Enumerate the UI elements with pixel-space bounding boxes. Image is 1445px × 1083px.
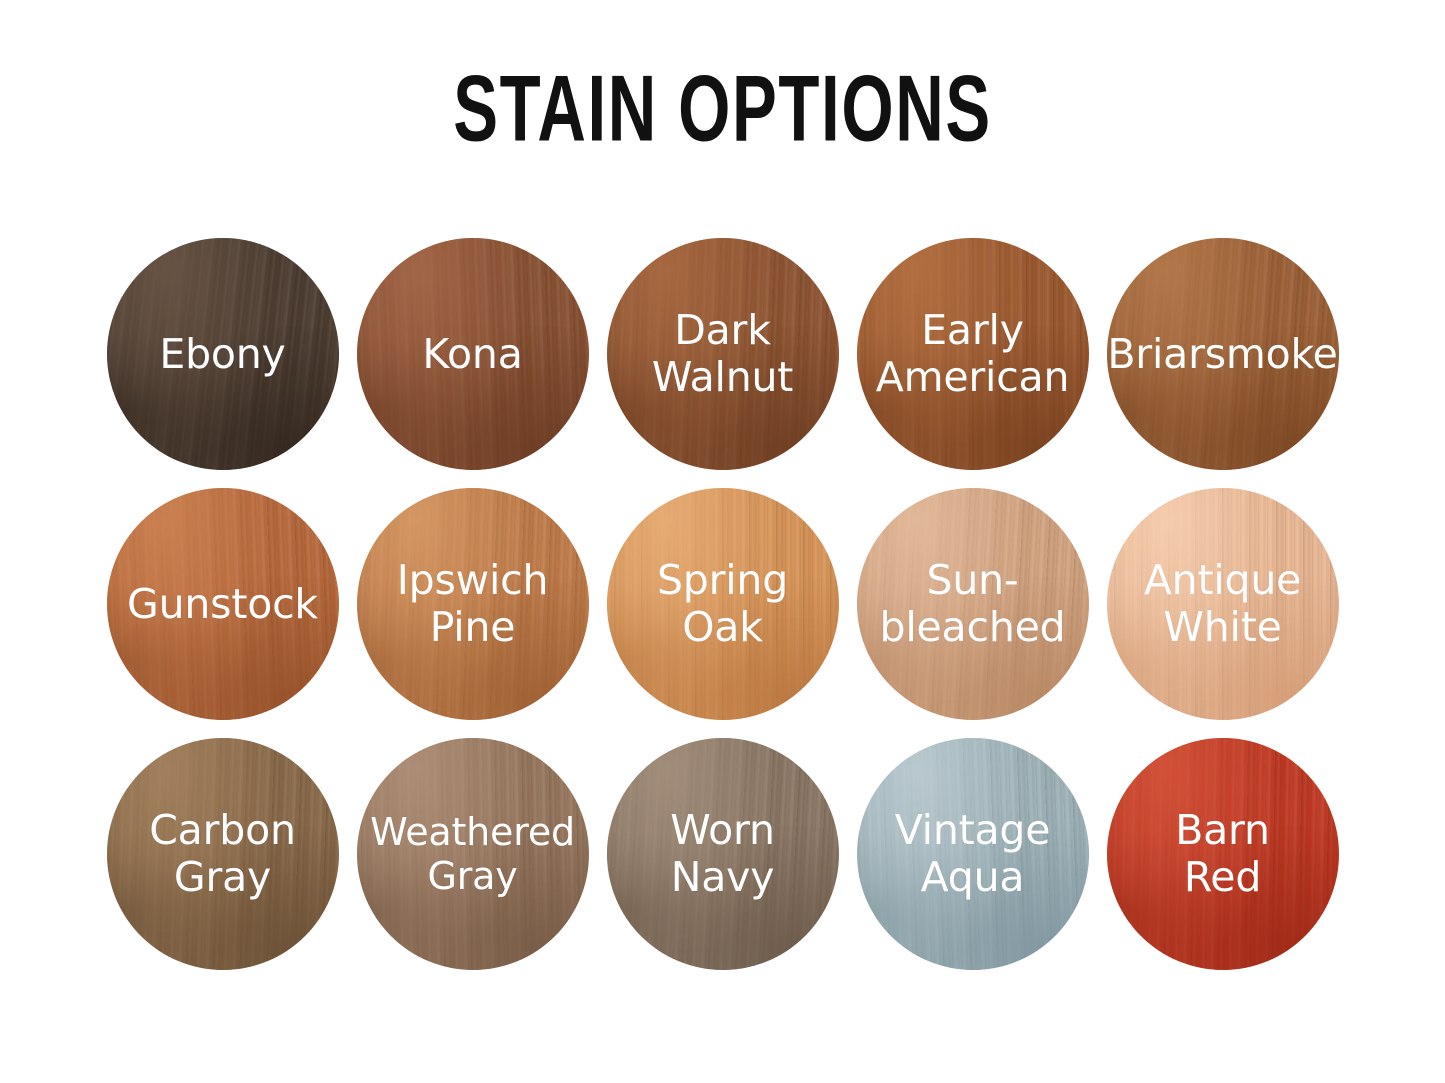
swatch-row-3: Carbon Gray Weathered Gray Worn Navy Vin… bbox=[0, 738, 1445, 970]
swatch-row-1: Ebony Kona Dark Walnut Early American Br… bbox=[0, 238, 1445, 470]
stain-swatch-carbon-gray[interactable]: Carbon Gray bbox=[107, 738, 339, 970]
swatch-label: Spring Oak bbox=[607, 557, 839, 651]
swatch-label: Antique White bbox=[1107, 557, 1339, 651]
stain-swatch-sun-bleached[interactable]: Sun- bleached bbox=[857, 488, 1089, 720]
stain-options-page: STAIN OPTIONS Ebony Kona Dark Walnut Ear… bbox=[0, 0, 1445, 1083]
stain-swatch-ipswich-pine[interactable]: Ipswich Pine bbox=[357, 488, 589, 720]
stain-swatch-antique-white[interactable]: Antique White bbox=[1107, 488, 1339, 720]
stain-swatch-vintage-aqua[interactable]: Vintage Aqua bbox=[857, 738, 1089, 970]
stain-swatch-early-american[interactable]: Early American bbox=[857, 238, 1089, 470]
swatch-label: Vintage Aqua bbox=[857, 807, 1089, 901]
stain-swatch-briarsmoke[interactable]: Briarsmoke bbox=[1107, 238, 1339, 470]
swatch-label: Dark Walnut bbox=[607, 307, 839, 401]
swatch-label: Gunstock bbox=[107, 581, 339, 628]
page-title: STAIN OPTIONS bbox=[145, 56, 1301, 159]
stain-swatch-gunstock[interactable]: Gunstock bbox=[107, 488, 339, 720]
swatch-label: Worn Navy bbox=[607, 807, 839, 901]
stain-swatch-weathered-gray[interactable]: Weathered Gray bbox=[357, 738, 589, 970]
stain-swatch-kona[interactable]: Kona bbox=[357, 238, 589, 470]
stain-swatch-grid: Ebony Kona Dark Walnut Early American Br… bbox=[0, 238, 1445, 970]
stain-swatch-worn-navy[interactable]: Worn Navy bbox=[607, 738, 839, 970]
swatch-label: Ebony bbox=[107, 331, 339, 378]
swatch-label: Briarsmoke bbox=[1107, 331, 1339, 378]
stain-swatch-ebony[interactable]: Ebony bbox=[107, 238, 339, 470]
swatch-label: Kona bbox=[357, 331, 589, 378]
swatch-label: Ipswich Pine bbox=[357, 557, 589, 651]
swatch-label: Weathered Gray bbox=[357, 810, 589, 898]
swatch-label: Carbon Gray bbox=[107, 807, 339, 901]
stain-swatch-spring-oak[interactable]: Spring Oak bbox=[607, 488, 839, 720]
swatch-label: Barn Red bbox=[1107, 807, 1339, 901]
stain-swatch-dark-walnut[interactable]: Dark Walnut bbox=[607, 238, 839, 470]
swatch-label: Sun- bleached bbox=[857, 557, 1089, 651]
stain-swatch-barn-red[interactable]: Barn Red bbox=[1107, 738, 1339, 970]
swatch-row-2: Gunstock Ipswich Pine Spring Oak Sun- bl… bbox=[0, 488, 1445, 720]
swatch-label: Early American bbox=[857, 307, 1089, 401]
